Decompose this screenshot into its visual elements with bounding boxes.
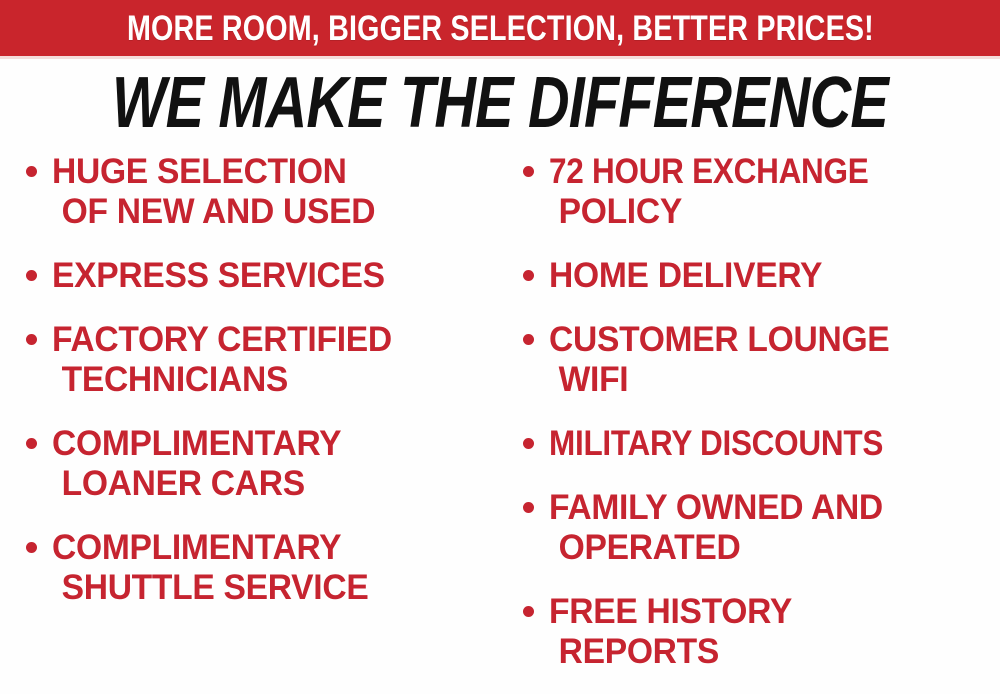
feature-bullet-line-primary: HOME DELIVERY xyxy=(549,256,982,296)
feature-bullet-line-primary: COMPLIMENTARY xyxy=(52,528,480,568)
feature-bullet-item: FACTORY CERTIFIEDTECHNICIANS xyxy=(18,320,498,400)
headline: WE MAKE THE DIFFERENCE xyxy=(0,70,1000,136)
feature-bullet-lines: 72 HOUR EXCHANGEPOLICY xyxy=(549,152,1000,232)
feature-bullet-line-secondary: POLICY xyxy=(549,192,982,232)
bullet-dot-icon xyxy=(523,502,534,513)
feature-bullet-item: FREE HISTORYREPORTS xyxy=(515,592,1000,672)
banner-underline xyxy=(0,56,1000,59)
feature-bullet-line-primary: EXPRESS SERVICES xyxy=(52,256,480,296)
advertisement-poster: MORE ROOM, BIGGER SELECTION, BETTER PRIC… xyxy=(0,0,1000,694)
feature-bullet-line-secondary: LOANER CARS xyxy=(52,464,480,504)
feature-bullet-item: 72 HOUR EXCHANGEPOLICY xyxy=(515,152,1000,232)
feature-bullet-line-secondary: OF NEW AND USED xyxy=(52,192,480,232)
feature-bullet-lines: FACTORY CERTIFIEDTECHNICIANS xyxy=(52,320,498,400)
feature-bullet-line-primary: FREE HISTORY xyxy=(549,592,982,632)
feature-bullet-line-primary: CUSTOMER LOUNGE xyxy=(549,320,982,360)
feature-bullet-line-secondary: TECHNICIANS xyxy=(52,360,480,400)
bullet-dot-icon xyxy=(26,542,37,553)
bullet-dot-icon xyxy=(26,438,37,449)
feature-bullet-item: COMPLIMENTARYLOANER CARS xyxy=(18,424,498,504)
feature-bullet-lines: EXPRESS SERVICES xyxy=(52,256,498,296)
feature-bullet-item: CUSTOMER LOUNGEWIFI xyxy=(515,320,1000,400)
feature-bullet-line-secondary: REPORTS xyxy=(549,632,982,672)
feature-bullet-line-primary: FACTORY CERTIFIED xyxy=(52,320,480,360)
feature-bullet-item: HOME DELIVERY xyxy=(515,256,1000,296)
feature-bullet-lines: FAMILY OWNED ANDOPERATED xyxy=(549,488,1000,568)
bullet-dot-icon xyxy=(523,334,534,345)
feature-bullet-lines: CUSTOMER LOUNGEWIFI xyxy=(549,320,1000,400)
feature-column-right: 72 HOUR EXCHANGEPOLICYHOME DELIVERYCUSTO… xyxy=(515,152,1000,694)
feature-bullet-lines: MILITARY DISCOUNTS xyxy=(549,424,1000,464)
feature-bullet-line-primary: COMPLIMENTARY xyxy=(52,424,480,464)
feature-bullet-line-primary: 72 HOUR EXCHANGE xyxy=(549,152,955,192)
headline-text: WE MAKE THE DIFFERENCE xyxy=(112,70,888,136)
feature-bullet-item: MILITARY DISCOUNTS xyxy=(515,424,1000,464)
bullet-dot-icon xyxy=(523,438,534,449)
feature-bullet-line-secondary: SHUTTLE SERVICE xyxy=(52,568,480,608)
feature-bullet-line-primary: HUGE SELECTION xyxy=(52,152,480,192)
bullet-dot-icon xyxy=(523,166,534,177)
feature-bullet-line-primary: MILITARY DISCOUNTS xyxy=(549,424,955,464)
feature-bullet-item: FAMILY OWNED ANDOPERATED xyxy=(515,488,1000,568)
feature-bullet-item: EXPRESS SERVICES xyxy=(18,256,498,296)
feature-bullet-lines: HUGE SELECTIONOF NEW AND USED xyxy=(52,152,498,232)
bullet-dot-icon xyxy=(26,270,37,281)
feature-bullet-lines: HOME DELIVERY xyxy=(549,256,1000,296)
feature-bullet-line-secondary: WIFI xyxy=(549,360,982,400)
feature-bullet-item: COMPLIMENTARYSHUTTLE SERVICE xyxy=(18,528,498,608)
feature-bullet-line-secondary: OPERATED xyxy=(549,528,982,568)
feature-bullet-lines: FREE HISTORYREPORTS xyxy=(549,592,1000,672)
feature-column-left: HUGE SELECTIONOF NEW AND USEDEXPRESS SER… xyxy=(18,152,498,632)
bullet-dot-icon xyxy=(26,334,37,345)
feature-bullet-item: HUGE SELECTIONOF NEW AND USED xyxy=(18,152,498,232)
promo-banner: MORE ROOM, BIGGER SELECTION, BETTER PRIC… xyxy=(0,0,1000,56)
bullet-dot-icon xyxy=(523,270,534,281)
promo-banner-text: MORE ROOM, BIGGER SELECTION, BETTER PRIC… xyxy=(127,11,874,46)
feature-columns: HUGE SELECTIONOF NEW AND USEDEXPRESS SER… xyxy=(0,152,1000,694)
bullet-dot-icon xyxy=(523,606,534,617)
feature-bullet-lines: COMPLIMENTARYLOANER CARS xyxy=(52,424,498,504)
bullet-dot-icon xyxy=(26,166,37,177)
feature-bullet-lines: COMPLIMENTARYSHUTTLE SERVICE xyxy=(52,528,498,608)
feature-bullet-line-primary: FAMILY OWNED AND xyxy=(549,488,982,528)
